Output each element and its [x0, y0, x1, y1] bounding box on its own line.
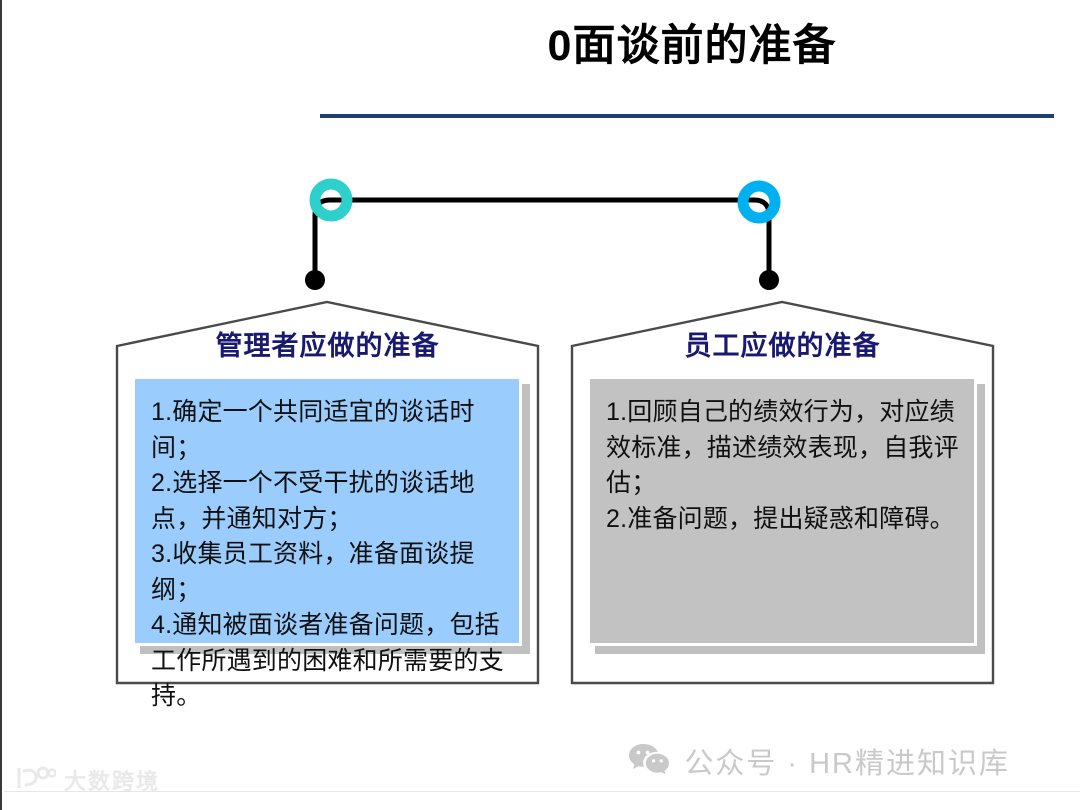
title-divider [320, 114, 1054, 118]
footer-branding: 公众号 · HR精进知识库 [628, 740, 1010, 782]
panel-heading-employee: 员工应做的准备 [570, 324, 995, 363]
panel-line: 2.准备问题，提出疑惑和障碍。 [606, 502, 960, 538]
connector-bracket [282, 170, 802, 300]
panel-line: 3.收集员工资料，准备面谈提纲； [151, 537, 505, 608]
panel-line: 4.通知被面谈者准备问题，包括工作所遇到的困难和所需要的支持。 [151, 608, 505, 715]
watermark-text: 大数跨境 [64, 764, 160, 796]
panel-body-manager: 1.确定一个共同适宜的谈话时间； 2.选择一个不受干扰的谈话地点，并通知对方； … [132, 376, 522, 646]
panel-heading-manager: 管理者应做的准备 [115, 324, 540, 363]
watermark-logo-icon [16, 765, 56, 796]
right-endpoint-dot [759, 270, 779, 290]
panel-manager: 管理者应做的准备 1.确定一个共同适宜的谈话时间； 2.选择一个不受干扰的谈话地… [115, 300, 540, 685]
slide: 0面谈前的准备 管理者应做的准备 1.确定一个共同适宜的谈话时间； 2.选择一个… [0, 0, 1080, 810]
page-title: 0面谈前的准备 [332, 22, 1052, 71]
panel-line: 1.回顾自己的绩效行为，对应绩效标准，描述绩效表现，自我评估； [606, 395, 960, 502]
footer-text: 公众号 · HR精进知识库 [684, 740, 1010, 782]
wechat-icon [628, 742, 670, 781]
panel-body-employee: 1.回顾自己的绩效行为，对应绩效标准，描述绩效表现，自我评估； 2.准备问题，提… [587, 376, 977, 646]
panel-employee: 员工应做的准备 1.回顾自己的绩效行为，对应绩效标准，描述绩效表现，自我评估； … [570, 300, 995, 685]
panel-line: 2.选择一个不受干扰的谈话地点，并通知对方； [151, 466, 505, 537]
panel-line: 1.确定一个共同适宜的谈话时间； [151, 395, 505, 466]
left-endpoint-dot [305, 270, 325, 290]
footer-divider [4, 791, 1080, 792]
connector-path [315, 200, 769, 282]
watermark: 大数跨境 [16, 764, 160, 796]
